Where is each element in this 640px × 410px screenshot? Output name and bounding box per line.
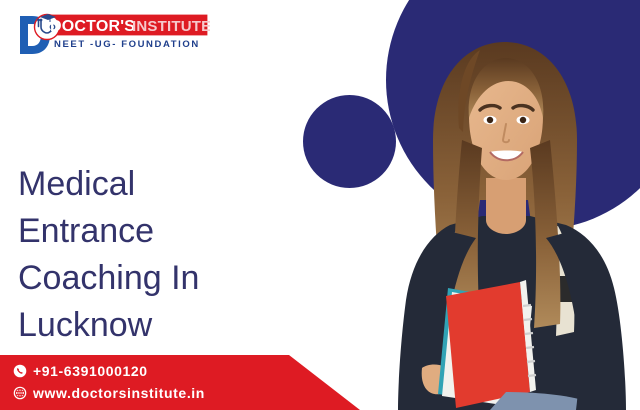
brand-logo[interactable]: DOCTOR'S INSTITUTE NEET -UG- FOUNDATION — [14, 10, 210, 60]
phone-icon — [13, 364, 27, 378]
hero-student-image — [330, 20, 640, 410]
headline-line-4: Lucknow — [18, 302, 318, 349]
headline-line-3: Coaching In — [18, 255, 318, 302]
headline-line-1: Medical — [18, 161, 318, 208]
logo-tagline: NEET -UG- FOUNDATION — [54, 39, 200, 50]
contact-phone-row[interactable]: +91-6391000120 — [13, 361, 205, 381]
contact-website-row[interactable]: www.doctorsinstitute.in — [13, 383, 205, 403]
headline-line-2: Entrance — [18, 208, 318, 255]
promo-banner: DOCTOR'S INSTITUTE NEET -UG- FOUNDATION … — [0, 0, 640, 410]
logo-name-secondary: INSTITUTE — [132, 18, 210, 35]
phone-number: +91-6391000120 — [33, 364, 148, 378]
website-url: www.doctorsinstitute.in — [33, 386, 205, 400]
contact-bar: +91-6391000120 www.doctorsinstitute.in — [0, 355, 360, 410]
logo-name-primary: DOCTOR'S — [50, 18, 135, 35]
carried-notebooks — [438, 280, 536, 408]
headline: Medical Entrance Coaching In Lucknow — [18, 161, 318, 349]
red-notebook — [446, 282, 530, 408]
globe-icon — [13, 386, 27, 400]
